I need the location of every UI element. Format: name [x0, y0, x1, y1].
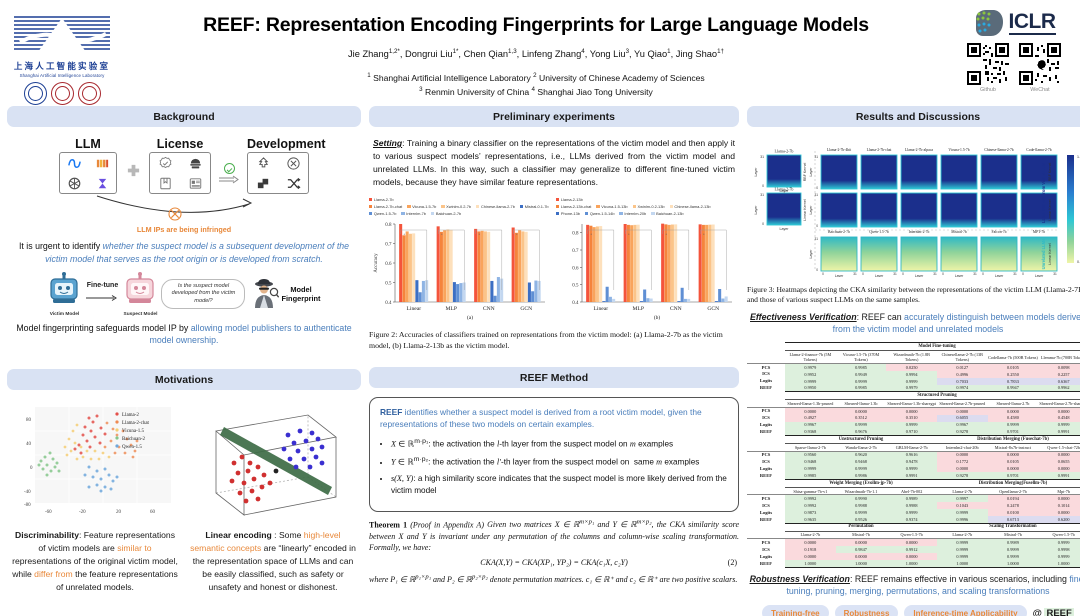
svg-text:Linear Kernel: Linear Kernel	[1048, 243, 1052, 265]
section-header-results: Results and Discussions	[747, 106, 1080, 127]
method-intro-rest: identifies whether a suspect model is de…	[380, 407, 702, 429]
table-cell: 0.9989	[988, 539, 1039, 546]
table-cell: 0.1772	[937, 459, 988, 466]
table-column-label: Sheared-llama-2.7b-sharegpt	[1038, 400, 1080, 407]
legend-swatch	[431, 212, 434, 215]
table-cell: 0.0000	[886, 539, 937, 546]
column-right: Results and Discussions Llama-2-7b310Lay…	[747, 106, 1080, 614]
legend-swatch	[670, 205, 673, 208]
svg-text:Llama-2-chat: Llama-2-chat	[122, 421, 150, 426]
heatmap-unrelated-label: Unrelated LLMs	[1041, 238, 1046, 269]
poster-columns: Background LLM License Development	[0, 106, 1080, 614]
table-cell: 1.0000	[988, 560, 1039, 567]
license-box	[149, 152, 211, 194]
table-cell: 0.4927	[785, 415, 836, 422]
svg-text:31: 31	[814, 155, 818, 159]
table-cell: 0.0655	[1038, 459, 1080, 466]
table-column-header: Sheared-llama-1.3b-prunedSheared-llama-1…	[747, 400, 1080, 407]
table-column-label: Mistral-7b	[988, 531, 1039, 538]
table-group-header: PermutationScaling Transformation	[747, 523, 1080, 531]
document-bookmark-icon	[158, 176, 173, 191]
table-group-label: Distribution Merging(Fusellm-7b)	[937, 479, 1080, 487]
table-cell: 0.0000	[1038, 495, 1080, 502]
table-cell: 0.9967	[785, 422, 836, 429]
table-cell: 0.9992	[785, 502, 836, 509]
victim-robot-icon	[47, 272, 81, 306]
table-cell: 0.1918	[785, 546, 836, 553]
motivations-figures: 80400 -40-80 -60-202060 Llama-2 Llama-2-…	[7, 397, 361, 523]
legend-label: Xwinlm-0.2-7b	[446, 204, 471, 209]
table-column-label: Mistral-7b	[836, 531, 887, 538]
y-tick-label: 0.8	[572, 232, 579, 237]
permutation-shuffle-icon	[286, 176, 301, 191]
table-cell: 1.0000	[886, 560, 937, 567]
table-cell: 0.7033	[937, 378, 988, 385]
table-corner-cell	[747, 487, 785, 494]
svg-text:Vicuna-1.5: Vicuna-1.5	[122, 429, 145, 434]
mistral-logo-icon	[95, 156, 110, 171]
heatmap-tile	[861, 155, 897, 189]
table-column-label: Wanda-llama-2-7b	[836, 444, 887, 451]
table-cell: 0.9979	[886, 385, 937, 392]
svg-text:31: 31	[760, 193, 764, 197]
table-cell: 0.9620	[836, 451, 887, 458]
table-cell: 0.9468	[785, 459, 836, 466]
license-document-icon	[188, 176, 203, 191]
svg-text:Qwen-1.5: Qwen-1.5	[122, 445, 142, 450]
legend-swatch	[585, 212, 588, 215]
table-row: PCS0.99920.99900.99890.99970.01940.0000	[747, 495, 1080, 502]
legend-item: Baichuan-2-13b	[651, 211, 683, 216]
legend-item: Internlm-20b	[619, 211, 646, 216]
poster-root: 上海人工智能实验室 Shanghai Artificial Intelligen…	[0, 0, 1080, 616]
table-column-label: Abel-7b-002	[886, 487, 937, 494]
svg-text:Layer: Layer	[1035, 274, 1044, 277]
table-corner-cell	[747, 351, 785, 364]
table-cell: 0.0000	[836, 553, 887, 560]
table-group-header: Structured Pruning	[747, 392, 1080, 400]
qr-wechat[interactable]: WeChat	[1019, 43, 1061, 93]
legend-item: Chinese-llama-2-13b	[670, 204, 711, 209]
table-row: Logits0.99990.99990.99990.00000.00000.00…	[747, 465, 1080, 472]
method-intro: REEF identifies whether a suspect model …	[380, 406, 728, 430]
table-cell: 0.9994	[886, 371, 937, 378]
iclr-wordmark: ICLR	[1009, 11, 1056, 35]
table-row: REEF0.99500.99850.99790.99740.99470.9962	[747, 385, 1080, 392]
table-cell: 0.0105	[988, 363, 1039, 370]
svg-text:-40: -40	[24, 490, 31, 495]
legend-item: Xwinlm-0.2-7b	[441, 204, 471, 209]
legend-label: Vicuna-1.5-7b	[412, 204, 436, 209]
table-cell: 0.9999	[886, 378, 937, 385]
legend-label: Xwinlm-0.2-13b	[638, 204, 665, 209]
svg-text:Layer: Layer	[809, 205, 813, 215]
legend-swatch	[633, 205, 636, 208]
results-table-wrap: Model Fine-tuningLlama-2-finance-7b (5M …	[747, 342, 1080, 567]
table-column-label: Sheared-llama-2.7b	[988, 400, 1039, 407]
table-row: REEF0.96350.95260.93740.99960.67130.6200	[747, 516, 1080, 523]
y-tick-label: 0.6	[385, 262, 392, 267]
table-cell: 0.9710	[886, 429, 937, 436]
legend-item: Xwinlm-0.2-13b	[633, 204, 665, 209]
heatmap-tile	[901, 193, 937, 227]
heatmap-kernel-label: Linear Kernel	[803, 199, 807, 221]
diagram-label-llm: LLM	[59, 137, 117, 151]
table-cell: 0.2550	[988, 371, 1039, 378]
pruning-tree-icon	[256, 156, 271, 171]
section-header-motivations: Motivations	[7, 369, 361, 390]
badge-inference-time[interactable]: Inference-time Applicability	[904, 605, 1026, 616]
table-cell: 0.0000	[785, 539, 836, 546]
cka-heatmap-grid: Llama-2-7b310LayerLayerRBF KernelLlama-2…	[749, 137, 1080, 277]
svg-text:0: 0	[816, 186, 818, 190]
badge-training-free[interactable]: Training-free	[762, 605, 828, 616]
table-cell: 0.0105	[988, 459, 1039, 466]
qr-code-icon[interactable]	[967, 43, 1009, 85]
table-cell: 0.0000	[785, 553, 836, 560]
svg-text:Llama-2: Llama-2	[122, 413, 139, 418]
lab-logo-mark	[10, 12, 114, 58]
table-column-label: Qwen-1.5-chat-72b	[1038, 444, 1080, 451]
table-column-label: Wizardmath-7b (1.8B Tokens)	[886, 351, 937, 364]
table-cell: 0.1014	[1038, 502, 1080, 509]
table-cell: 0.9949	[836, 371, 887, 378]
svg-text:31: 31	[973, 272, 977, 276]
setting-paragraph: Setting: Training a binary classifier on…	[369, 134, 739, 189]
legend-item: Vicuna-1.5-7b	[407, 204, 436, 209]
table-corner-cell	[747, 444, 785, 451]
table-cell: 0.0000	[937, 451, 988, 458]
table-cell: 0.9988	[886, 502, 937, 509]
table-corner-cell	[747, 479, 785, 487]
legend-label: Llama-2-13b-chat	[561, 204, 592, 209]
legend-item: Llama-2-13b-chat	[556, 204, 591, 209]
heatmap-tile	[821, 237, 857, 271]
table-column-label: Llemma-7b (700B Tokens)	[1038, 351, 1080, 364]
section-header-reef-method: REEF Method	[369, 367, 739, 388]
table-row-label: ICS	[747, 459, 785, 466]
table-group-header: Unstructured PruningDistribution Merging…	[747, 436, 1080, 444]
legend-swatch	[369, 205, 372, 208]
theorem-label: Theorem 1	[369, 520, 407, 529]
table-group-label: Weight Merging (Evollm-jp-7b)	[785, 479, 937, 487]
table-cell: 0.9997	[937, 495, 988, 502]
table-cell: 0.7833	[988, 378, 1039, 385]
header-center: REEF: Representation Encoding Fingerprin…	[118, 4, 954, 99]
table-row-label: PCS	[747, 495, 785, 502]
legend-item: Internlm-7b	[401, 211, 426, 216]
table-cell: 0.9947	[988, 385, 1039, 392]
lab-name-english: Shanghai Artificial Intelligence Laborat…	[20, 73, 105, 78]
svg-text:-60: -60	[45, 510, 52, 515]
poster-header: 上海人工智能实验室 Shanghai Artificial Intelligen…	[0, 0, 1080, 106]
badge-robustness[interactable]: Robustness	[835, 605, 899, 616]
table-cell: 0.0000	[836, 539, 887, 546]
legend-item: Llama-2-13b	[556, 197, 739, 202]
table-cell: 0.0000	[1038, 451, 1080, 458]
legend-swatch	[556, 198, 559, 201]
legend-label: Qwen-1.5-7b	[374, 211, 397, 216]
section-header-preliminary: Preliminary experiments	[369, 106, 739, 127]
table-cell: 0.6200	[1038, 516, 1080, 523]
meta-logo-icon	[67, 156, 82, 171]
table-corner-cell	[747, 531, 785, 538]
svg-text:Baichuan-2: Baichuan-2	[122, 437, 146, 442]
heatmap-tile	[941, 155, 977, 189]
legend-swatch	[520, 205, 523, 208]
equation-number: (2)	[728, 557, 737, 568]
svg-text:80: 80	[26, 418, 32, 423]
table-cell: 0.9912	[886, 546, 937, 553]
table-cell: 0.9998	[1038, 546, 1080, 553]
table-cell: 0.0194	[988, 495, 1039, 502]
table-column-label: Shisa-gamma-7b-v1	[785, 487, 836, 494]
table-column-label: Sheared-llama-1.3b	[836, 400, 887, 407]
openai-logo-icon	[67, 176, 82, 191]
table-row-label: PCS	[747, 539, 785, 546]
table-cell: 0.0000	[937, 465, 988, 472]
svg-text:31: 31	[933, 272, 937, 276]
column-left: Background LLM License Development	[7, 106, 361, 614]
x-tick-label: GCN	[520, 306, 532, 312]
table-row: Logits0.00000.00000.00000.99990.99990.99…	[747, 553, 1080, 560]
table-row-label: ICS	[747, 546, 785, 553]
table-cell: 0.9979	[785, 363, 836, 370]
legend-swatch	[369, 212, 372, 215]
heatmap-column-title: Falcon-7b	[992, 230, 1007, 234]
table-cell: 0.9701	[988, 472, 1039, 479]
method-bullet-y: Y ∈ ℝm·p₂: the activation the l′-th laye…	[391, 455, 728, 468]
colorbar	[1067, 155, 1074, 263]
table-cell: 0.9991	[886, 472, 937, 479]
discriminability-label: Discriminability	[15, 530, 79, 540]
table-cell: 0.9985	[785, 472, 836, 479]
table-cell: 0.9999	[886, 509, 937, 516]
table-cell: 0.2257	[1038, 371, 1080, 378]
affiliation-list: 1 Shanghai Artificial Intelligence Labor…	[118, 71, 954, 99]
table-cell: 0.9999	[836, 509, 887, 516]
legend-swatch	[651, 212, 654, 215]
heatmap-tile	[861, 193, 897, 227]
shanghai-ai-lab-logo: 上海人工智能实验室 Shanghai Artificial Intelligen…	[6, 4, 118, 105]
x-tick-label: MLP	[633, 306, 645, 312]
table-cell: 0.9278	[937, 429, 988, 436]
finetune-label: Fine-tune	[85, 282, 119, 289]
svg-text:31: 31	[853, 272, 857, 276]
legend-swatch	[619, 212, 622, 215]
svg-text:Layer: Layer	[809, 249, 813, 259]
table-cell: 0.0000	[886, 407, 937, 414]
infringement-arc-arrow	[19, 194, 349, 224]
table-column-label: Llama-2-7b	[785, 531, 836, 538]
svg-text:20: 20	[116, 510, 122, 515]
table-column-header: Shisa-gamma-7b-v1Wizardmath-7b-1.1Abel-7…	[747, 487, 1080, 494]
table-cell: 0.9952	[785, 371, 836, 378]
background-diagram: LLM License Development	[7, 134, 361, 234]
table-row: PCS0.00000.00000.00000.00000.00000.0000	[747, 407, 1080, 414]
qwen-logo-icon	[95, 176, 110, 191]
table-row-label: PCS	[747, 363, 785, 370]
iclr-brain-icon	[973, 8, 1005, 38]
y-axis-label: Accuracy	[374, 253, 379, 273]
thought-bubble: Is the suspect model developed from the …	[161, 279, 245, 310]
heatmap-tile	[981, 237, 1017, 271]
theorem-proof-ref: (Proof in Appendix A)	[410, 520, 484, 529]
table-cell: 0.0000	[937, 407, 988, 414]
table-cell: 0.0127	[937, 363, 988, 370]
table-cell: 0.9368	[785, 429, 836, 436]
legend-swatch	[556, 212, 559, 215]
heatmap-tile	[901, 237, 937, 271]
suspect-robot-icon	[123, 272, 157, 306]
legend-label: Chinese-llama-2-7b	[481, 204, 515, 209]
table-cell: 0.9986	[836, 472, 887, 479]
figure2-row: Llama-2-7bLlama-2-7b-chatVicuna-1.5-7bXw…	[369, 197, 739, 327]
discriminability-text: Discriminability: Feature representation…	[11, 529, 179, 593]
x-tick-label: MLP	[446, 306, 458, 312]
table-row: PCS0.99790.99850.02500.01270.01050.0098	[747, 363, 1080, 370]
table-column-label: Mixtral-8x7b-instruct	[988, 444, 1039, 451]
table-cell: 0.0000	[785, 407, 836, 414]
table-column-label: Llama-2-7b	[937, 487, 988, 494]
table-cell: 0.0000	[988, 407, 1039, 414]
legend-item: Llama-2-7b	[369, 197, 552, 202]
table-column-label: Openllama-2-7b	[988, 487, 1039, 494]
table-cell: 0.9992	[785, 495, 836, 502]
table-cell: 0.9999	[836, 422, 887, 429]
heatmap-tile	[981, 193, 1017, 227]
table-column-label: Sheared-llama-2.7b-pruned	[937, 400, 988, 407]
legend-label: Baichuan-2-13b	[656, 211, 683, 216]
table-row-label: Logits	[747, 465, 785, 472]
certificate-check-icon	[158, 156, 173, 171]
legend-label: Vicuna-1.5-13b	[601, 204, 627, 209]
x-tick-label: CNN	[670, 306, 682, 312]
svg-text:0: 0	[862, 272, 864, 276]
svg-text:Layer: Layer	[875, 274, 884, 277]
at-symbol: @	[1033, 608, 1042, 616]
table-cell: 0.9999	[988, 546, 1039, 553]
table-cell: 0.9985	[836, 385, 887, 392]
heatmap-column-title: Code-llama-2-7b	[1026, 148, 1051, 152]
table-cell: 0.0100	[988, 509, 1039, 516]
svg-text:60: 60	[150, 510, 156, 515]
table-cell: 0.9991	[1038, 429, 1080, 436]
table-group-label: Unstructured Pruning	[785, 436, 937, 444]
table-row: REEF0.93680.96760.97100.92780.97010.9991	[747, 429, 1080, 436]
table-row-label: REEF	[747, 472, 785, 479]
svg-text:Layer: Layer	[955, 274, 964, 277]
legend-swatch	[556, 205, 559, 208]
diagram-label-license: License	[149, 137, 211, 151]
table-cell: 0.4548	[1038, 415, 1080, 422]
method-bullets: X ∈ ℝm·p₁: the activation the l-th layer…	[391, 437, 728, 497]
llm-vendor-box	[59, 152, 117, 194]
heatmap-tile	[901, 155, 937, 189]
table-corner-cell	[747, 392, 785, 400]
figure2b-chart: 0.40.50.60.70.8Linear*MLP*CNN*GCN*(b)	[556, 218, 734, 322]
plus-icon	[126, 163, 141, 178]
table-cell: 0.9950	[785, 385, 836, 392]
table-row: REEF0.99850.99860.99910.92780.97010.9991	[747, 472, 1080, 479]
table-column-label: Qwen-1.5-7b	[886, 531, 937, 538]
table-row-label: PCS	[747, 407, 785, 414]
y-tick-label: 0.7	[572, 249, 579, 254]
table-column-label: Sparse-llama-2-7b	[785, 444, 836, 451]
svg-text:31: 31	[760, 155, 764, 159]
table-cell: 0.9991	[1038, 472, 1080, 479]
table-group-header: Model Fine-tuning	[747, 343, 1080, 351]
table-cell: 0.0250	[886, 363, 937, 370]
table-column-label: Llama-2-finance-7b (5M Tokens)	[785, 351, 836, 364]
table-cell: 0.4996	[937, 371, 988, 378]
table-cell: 0.3510	[886, 415, 937, 422]
robustness-verification: Robustness Verification: REEF remains ef…	[747, 573, 1080, 599]
table-column-label: Codellama-7b (500B Tokens)	[988, 351, 1039, 364]
heatmap-column-title: Internlm-2-7b	[909, 230, 930, 234]
legend-label: Baichuan-2-7b	[436, 211, 461, 216]
svg-text:Layer: Layer	[915, 274, 924, 277]
column-middle: Preliminary experiments Setting: Trainin…	[369, 106, 739, 614]
table-cell: 0.9999	[836, 465, 887, 472]
y-tick-label: 0.4	[572, 301, 579, 306]
figure2a-chart: 0.40.50.60.70.8AccuracyLinear*MLP*CNN*GC…	[369, 218, 547, 322]
table-cell: 0.9468	[836, 459, 887, 466]
table-column-label: Sheared-llama-1.3b-pruned	[785, 400, 836, 407]
subplot-title: (b)	[654, 314, 660, 321]
table-cell: 0.9999	[886, 422, 937, 429]
table-cell: 0.1043	[937, 502, 988, 509]
svg-text:Layer: Layer	[780, 227, 790, 231]
table-row-label: REEF	[747, 560, 785, 567]
svg-text:31: 31	[1013, 272, 1017, 276]
university-seals	[24, 82, 101, 105]
setting-body: : Training a binary classifier on the re…	[373, 138, 735, 187]
y-tick-label: 0.6	[572, 267, 579, 272]
table-cell: 0.9974	[937, 385, 988, 392]
infringement-note: LLM IPs are being infringed	[19, 225, 349, 234]
section-header-background: Background	[7, 106, 361, 127]
y-tick-label: 0.4	[385, 301, 392, 306]
table-row-label: REEF	[747, 516, 785, 523]
table-column-label: Vicuna-1.5-7b (370M Tokens)	[836, 351, 887, 364]
table-cell: 1.0000	[785, 560, 836, 567]
figure2a: Llama-2-7bLlama-2-7b-chatVicuna-1.5-7bXw…	[369, 197, 552, 327]
table-cell: 0.0000	[1038, 407, 1080, 414]
approval-arrow	[217, 163, 241, 184]
table-row-label: ICS	[747, 502, 785, 509]
table-corner-cell	[747, 343, 785, 351]
qr-github[interactable]: Github	[967, 43, 1009, 93]
page-title: REEF: Representation Encoding Fingerprin…	[118, 14, 954, 37]
table-cell: 0.9676	[836, 429, 887, 436]
qr-code-icon[interactable]	[1019, 43, 1061, 85]
table-cell: 0.9278	[937, 472, 988, 479]
merging-blocks-icon	[256, 176, 271, 191]
method-bullet-s: s(X, Y): a high similarity score indicat…	[391, 473, 728, 496]
table-cell: 0.9701	[988, 429, 1039, 436]
svg-text:0: 0	[822, 272, 824, 276]
table-row-label: Logits	[747, 422, 785, 429]
legend-item: Vicuna-1.5-13b	[596, 204, 627, 209]
table-cell: 0.0000	[988, 451, 1039, 458]
svg-text:Layer: Layer	[809, 167, 813, 177]
table-column-header: Llama-2-finance-7b (5M Tokens)Vicuna-1.5…	[747, 351, 1080, 364]
legend-label: Llama-2-13b	[561, 197, 583, 202]
x-tick-label: GCN	[707, 306, 719, 312]
svg-text:0: 0	[942, 272, 944, 276]
heatmap-column-title: Mistral-7b	[951, 230, 967, 234]
